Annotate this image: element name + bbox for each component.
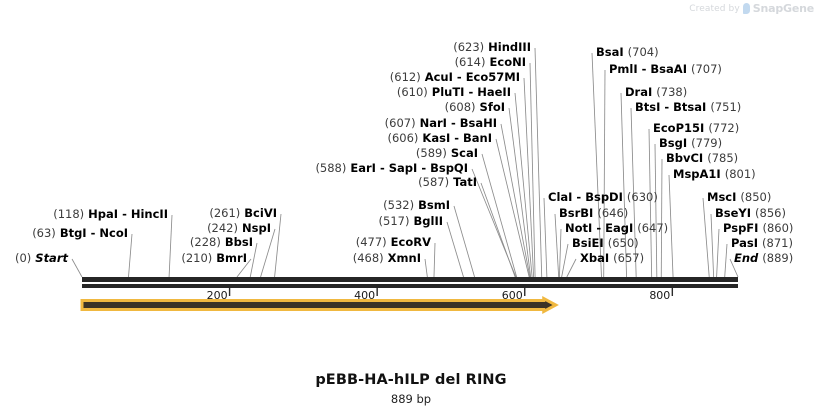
watermark-brand: SnapGene [753, 2, 814, 15]
name-separator: - [376, 161, 389, 175]
enzyme-name: SapI [389, 161, 418, 175]
enzyme-position: (610) [397, 85, 428, 99]
enzyme-label-acui[interactable]: (612) AcuI - Eco57MI [390, 71, 520, 83]
enzyme-position: (630) [627, 190, 658, 204]
name-separator: - [447, 116, 460, 130]
leader-line [562, 244, 568, 277]
enzyme-label-pasi[interactable]: PasI (871) [731, 237, 793, 249]
enzyme-position: (517) [379, 214, 410, 228]
enzyme-label-econi[interactable]: (614) EcoNI [455, 56, 526, 68]
enzyme-position: (650) [608, 236, 639, 250]
enzyme-label-bmri[interactable]: (210) BmrI [181, 252, 247, 264]
enzyme-position: (589) [416, 146, 447, 160]
leader-line [524, 78, 534, 277]
enzyme-name: XmnI [388, 251, 421, 265]
leader-line [559, 229, 561, 277]
enzyme-name: BspQI [430, 161, 468, 175]
enzyme-position: (871) [762, 236, 793, 250]
leader-line [275, 214, 281, 277]
leader-line [530, 63, 535, 277]
leader-line [472, 169, 516, 277]
enzyme-name: BtgI [60, 226, 87, 240]
enzyme-position: (612) [390, 70, 421, 84]
ruler-bar [82, 284, 738, 288]
enzyme-position: (751) [710, 100, 741, 114]
enzyme-label-hpai[interactable]: (118) HpaI - HincII [53, 208, 168, 220]
enzyme-label-pmli[interactable]: PmlI - BsaAI (707) [609, 63, 722, 75]
name-separator: - [453, 70, 466, 84]
enzyme-label-xmni[interactable]: (468) XmnI [353, 252, 421, 264]
leader-line [655, 144, 657, 277]
enzyme-position: (704) [628, 45, 659, 59]
enzyme-label-tati[interactable]: (587) TatI [418, 176, 477, 188]
snapgene-watermark: Created by SnapGene [689, 2, 814, 15]
enzyme-label-drai[interactable]: DraI (738) [625, 86, 687, 98]
enzyme-position: (856) [755, 206, 786, 220]
enzyme-label-bsai[interactable]: BsaI (704) [596, 46, 659, 58]
sequence-backbone [82, 277, 738, 282]
enzyme-label-pluti[interactable]: (610) PluTI - HaeII [397, 86, 511, 98]
leader-line [711, 214, 714, 277]
enzyme-name: BmrI [216, 251, 247, 265]
enzyme-name: BciVI [244, 206, 277, 220]
enzyme-label-btsi[interactable]: BtsI - BtsaI (751) [635, 101, 741, 113]
enzyme-name: TatI [453, 175, 477, 189]
name-separator: - [572, 190, 585, 204]
enzyme-name: BsiEI [572, 236, 604, 250]
enzyme-name: HindIII [488, 40, 531, 54]
leader-line [169, 215, 172, 277]
enzyme-position: (647) [637, 221, 668, 235]
enzyme-position: (779) [691, 136, 722, 150]
enzyme-name: EcoRV [391, 235, 431, 249]
enzyme-name: BsaI [596, 45, 624, 59]
leader-line [454, 206, 475, 277]
enzyme-label-sfoi[interactable]: (608) SfoI [445, 101, 505, 113]
enzyme-label-bcivi[interactable]: (261) BciVI [209, 207, 277, 219]
enzyme-position: (587) [418, 175, 449, 189]
enzyme-position: (606) [387, 131, 418, 145]
enzyme-position: (210) [181, 251, 212, 265]
enzyme-name: BsaHI [460, 116, 497, 130]
leader-line [567, 259, 576, 277]
ruler-number: 400 [354, 289, 375, 302]
leader-line [496, 139, 529, 277]
enzyme-name: BsgI [659, 136, 687, 150]
enzyme-label-ecorv[interactable]: (477) EcoRV [356, 236, 431, 248]
enzyme-position: (850) [740, 190, 771, 204]
enzyme-name: EagI [605, 221, 633, 235]
enzyme-name: BsrBI [559, 206, 593, 220]
enzyme-label-bsrbi[interactable]: BsrBI (646) [559, 207, 628, 219]
enzyme-label-nari[interactable]: (607) NarI - BsaHI [385, 117, 497, 129]
enzyme-name: BglII [414, 214, 444, 228]
name-separator: - [417, 161, 430, 175]
leader-line [434, 243, 435, 277]
feature-arrow[interactable] [82, 299, 556, 312]
enzyme-label-mspa1i[interactable]: MspA1I (801) [673, 168, 756, 180]
enzyme-label-scai[interactable]: (589) ScaI [416, 147, 478, 159]
name-separator: - [450, 131, 463, 145]
enzyme-name: BbsI [225, 235, 253, 249]
enzyme-label-bsiei[interactable]: BsiEI (650) [572, 237, 639, 249]
leader-line [669, 175, 673, 277]
leader-line [703, 198, 709, 277]
enzyme-label-btgi[interactable]: (63) BtgI - NcoI [32, 227, 128, 239]
enzyme-position: (785) [707, 151, 738, 165]
enzyme-name: BsaAI [650, 62, 687, 76]
enzyme-label-noti[interactable]: NotI - EagI (647) [565, 222, 668, 234]
enzyme-position: (63) [32, 226, 56, 240]
enzyme-name: NarI [420, 116, 447, 130]
enzyme-name: NspI [242, 221, 271, 235]
enzyme-name: End [734, 251, 758, 265]
enzyme-name: NotI [565, 221, 592, 235]
enzyme-label-hindiii[interactable]: (623) HindIII [453, 41, 531, 53]
enzyme-name: BbvCI [666, 151, 703, 165]
enzyme-name: KasI [422, 131, 450, 145]
enzyme-name: EarI [350, 161, 376, 175]
enzyme-name: BtsI [635, 100, 660, 114]
leader-line [555, 214, 559, 277]
leader-line [128, 234, 132, 277]
enzyme-position: (801) [725, 167, 756, 181]
enzyme-name: PluTI [432, 85, 465, 99]
watermark-prefix: Created by [689, 4, 740, 14]
name-separator: - [592, 221, 605, 235]
enzyme-name: BseYI [715, 206, 751, 220]
enzyme-position: (477) [356, 235, 387, 249]
enzyme-position: (738) [656, 85, 687, 99]
leader-line [509, 108, 531, 277]
leader-line [72, 259, 82, 277]
enzyme-position: (607) [385, 116, 416, 130]
leader-line [501, 124, 530, 277]
leader-line [425, 259, 427, 277]
enzyme-label-nspi[interactable]: (242) NspI [207, 222, 271, 234]
enzyme-position: (657) [613, 251, 644, 265]
enzyme-label-bseyi[interactable]: BseYI (856) [715, 207, 786, 219]
enzyme-label-kasi[interactable]: (606) KasI - BanI [387, 132, 492, 144]
sequence-length: 889 bp [0, 392, 822, 406]
enzyme-position: (588) [315, 161, 346, 175]
enzyme-name: ClaI [548, 190, 572, 204]
enzyme-name: EcoNI [490, 55, 526, 69]
enzyme-label-eari[interactable]: (588) EarI - SapI - BspQI [315, 162, 468, 174]
enzyme-name: BtsaI [673, 100, 706, 114]
leader-line [717, 229, 719, 277]
enzyme-label-end[interactable]: End (889) [734, 252, 793, 264]
enzyme-label-msci[interactable]: MscI (850) [707, 191, 771, 203]
enzyme-name: DraI [625, 85, 652, 99]
enzyme-position: (261) [209, 206, 240, 220]
enzyme-label-bbsi[interactable]: (228) BbsI [190, 236, 253, 248]
leader-line [725, 244, 727, 277]
enzyme-position: (623) [453, 40, 484, 54]
leader-line [261, 229, 275, 277]
enzyme-name: Start [35, 251, 68, 265]
enzyme-label-start[interactable]: (0) Start [15, 252, 68, 264]
enzyme-label-ecop15i[interactable]: EcoP15I (772) [653, 122, 739, 134]
enzyme-name: MscI [707, 190, 736, 204]
enzyme-label-clai[interactable]: ClaI - BspDI (630) [548, 191, 658, 203]
enzyme-position: (889) [762, 251, 793, 265]
enzyme-label-pspfi[interactable]: PspFI (860) [723, 222, 793, 234]
enzyme-position: (772) [708, 121, 739, 135]
name-separator: - [87, 226, 100, 240]
leader-line [482, 154, 517, 277]
ruler-number: 200 [207, 289, 228, 302]
snapgene-logo-icon [743, 3, 750, 14]
enzyme-position: (242) [207, 221, 238, 235]
enzyme-label-bsmi[interactable]: (532) BsmI [383, 199, 450, 211]
enzyme-name: BsmI [418, 198, 450, 212]
enzyme-name: SfoI [480, 100, 505, 114]
enzyme-name: AcuI [425, 70, 453, 84]
enzyme-position: (707) [691, 62, 722, 76]
enzyme-name: PasI [731, 236, 758, 250]
enzyme-position: (608) [445, 100, 476, 114]
enzyme-label-xbai[interactable]: XbaI (657) [580, 252, 644, 264]
ruler-number: 600 [502, 289, 523, 302]
enzyme-name: EcoP15I [653, 121, 704, 135]
name-separator: - [118, 207, 131, 221]
enzyme-position: (860) [762, 221, 793, 235]
enzyme-position: (614) [455, 55, 486, 69]
enzyme-name: PmlI [609, 62, 638, 76]
enzyme-name: HaeII [477, 85, 511, 99]
leader-line [544, 198, 547, 277]
enzyme-position: (468) [353, 251, 384, 265]
ruler-number: 800 [649, 289, 670, 302]
enzyme-label-bbvci[interactable]: BbvCI (785) [666, 152, 738, 164]
enzyme-position: (532) [383, 198, 414, 212]
enzyme-name: HpaI [88, 207, 118, 221]
enzyme-position: (228) [190, 235, 221, 249]
enzyme-name: ScaI [451, 146, 478, 160]
enzyme-name: BanI [463, 131, 492, 145]
enzyme-label-bsgi[interactable]: BsgI (779) [659, 137, 722, 149]
name-separator: - [638, 62, 651, 76]
leader-line [661, 159, 662, 277]
enzyme-name: BspDI [585, 190, 623, 204]
name-separator: - [660, 100, 673, 114]
name-separator: - [464, 85, 477, 99]
sequence-map: Created by SnapGene (0) Start(63) BtgI -… [0, 0, 822, 415]
page-title: pEBB-HA-hILP del RING [0, 372, 822, 388]
enzyme-name: HincII [131, 207, 168, 221]
enzyme-position: (0) [15, 251, 31, 265]
enzyme-name: MspA1I [673, 167, 721, 181]
enzyme-position: (646) [597, 206, 628, 220]
enzyme-name: XbaI [580, 251, 609, 265]
enzyme-name: Eco57MI [466, 70, 520, 84]
enzyme-name: PspFI [723, 221, 758, 235]
enzyme-name: NcoI [99, 226, 128, 240]
enzyme-label-bglii[interactable]: (517) BglII [379, 215, 443, 227]
leader-line [535, 48, 542, 277]
enzyme-position: (118) [53, 207, 84, 221]
